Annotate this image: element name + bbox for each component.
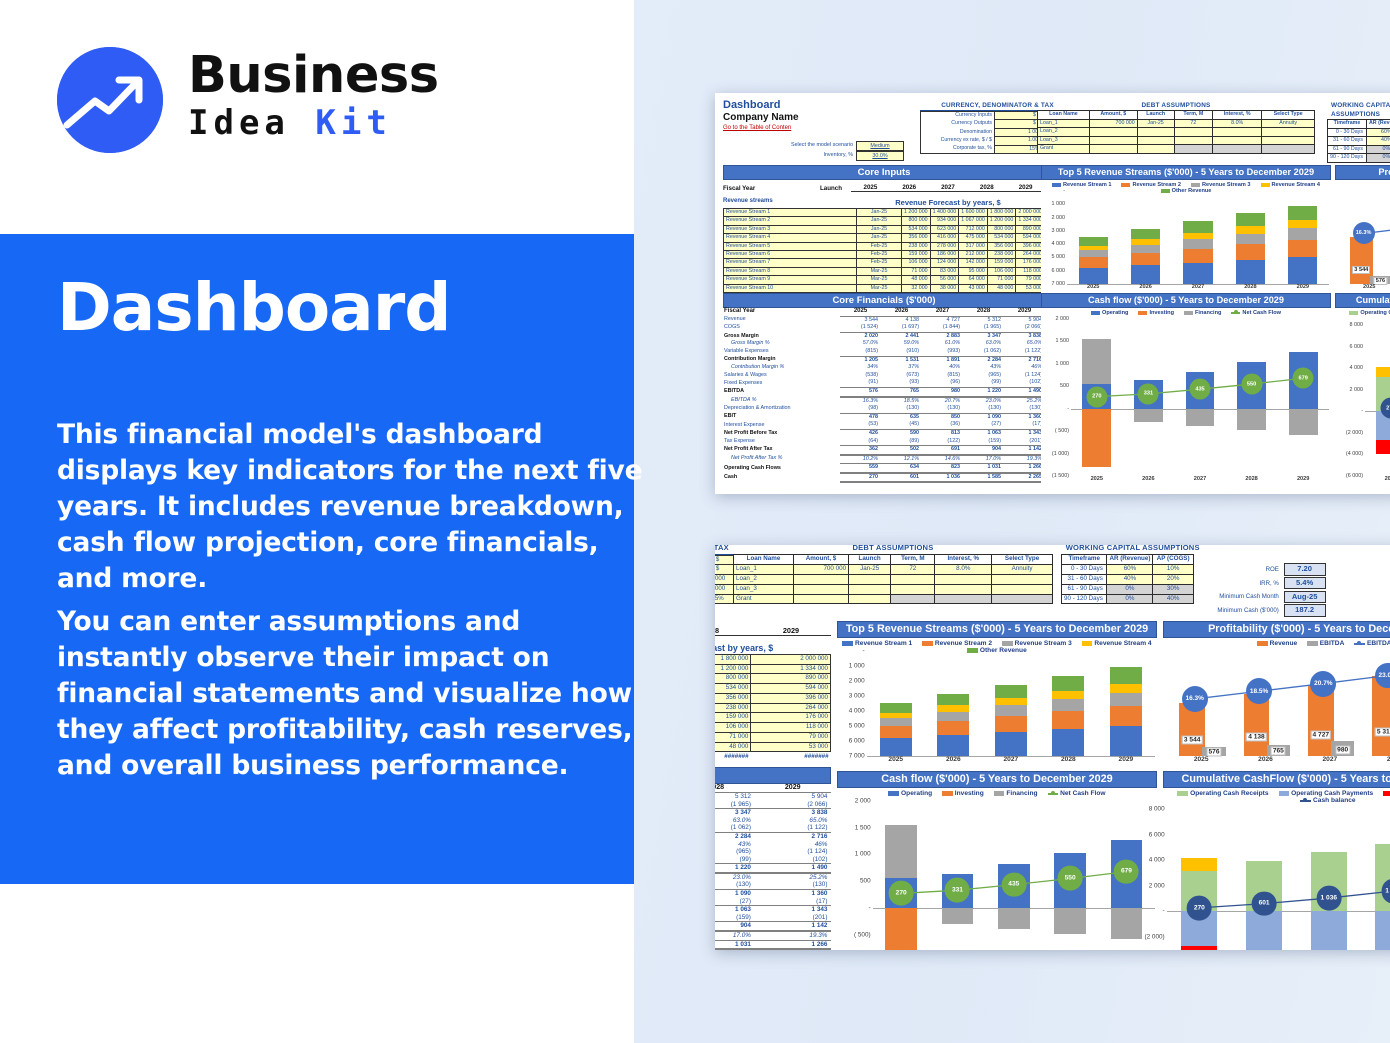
year-header-2028[interactable]: 2028 bbox=[715, 626, 751, 636]
bar-segment[interactable] bbox=[1288, 240, 1317, 258]
debt-cell[interactable] bbox=[1262, 145, 1315, 154]
revenue-stream-row[interactable]: Revenue Stream 1Jan-251 200 0001 400 000… bbox=[724, 209, 1045, 217]
core-financials-value[interactable]: 1 090 bbox=[963, 413, 1004, 421]
bar-segment[interactable] bbox=[1110, 693, 1142, 706]
revenue-stream-row[interactable]: 212 000238 000264 000 bbox=[715, 703, 831, 713]
legend-label[interactable]: Operating Cash Receipts bbox=[1190, 790, 1268, 797]
debt-cell[interactable] bbox=[849, 574, 891, 584]
core-financials-row[interactable]: (993)(1 062)(1 122) bbox=[715, 824, 831, 832]
debt-cell[interactable] bbox=[891, 574, 935, 584]
core-financials-row[interactable]: 20.7%23.0%25.2% bbox=[715, 873, 831, 882]
core-financials-value[interactable]: (17) bbox=[754, 898, 831, 906]
chart-cash-flow-legend[interactable]: OperatingInvestingFinancingNet Cash Flow bbox=[837, 788, 1157, 797]
debt-cell[interactable]: Loan_2 bbox=[734, 574, 794, 584]
core-financials-value[interactable]: (2 066) bbox=[754, 801, 831, 809]
working-capital-assumptions[interactable]: WORKING CAPITAL ASSUMPTIONSTimeframeAR (… bbox=[1327, 101, 1390, 163]
core-financials-row[interactable]: EBIT4786358501 0901 360 bbox=[723, 413, 1045, 421]
revenue-stream-value[interactable]: 2 000 000 bbox=[751, 654, 831, 664]
legend-item[interactable]: Revenue Stream 4 bbox=[1082, 640, 1152, 647]
wc-cell[interactable]: 30% bbox=[1153, 584, 1193, 594]
core-financials-value[interactable]: (27) bbox=[963, 421, 1004, 429]
x-axis-tick[interactable]: 2026 bbox=[925, 756, 983, 769]
kpi-row[interactable]: ROE7.20 bbox=[1217, 563, 1325, 576]
debt-header-cell[interactable]: Interest, % bbox=[1213, 111, 1262, 120]
core-financials-row-label[interactable]: Gross Margin % bbox=[723, 340, 840, 348]
bar-segment[interactable] bbox=[1079, 246, 1108, 251]
debt-cell[interactable] bbox=[1137, 128, 1174, 137]
revenue-stream-row[interactable]: Revenue Stream 9Mar-2548 00056 00064 000… bbox=[724, 276, 1045, 284]
revenue-stream-value[interactable]: 212 000 bbox=[959, 251, 988, 259]
revenue-forecast-table[interactable]: Revenue Stream 1Jan-251 200 0001 400 000… bbox=[723, 208, 1045, 293]
debt-cell[interactable] bbox=[1174, 136, 1213, 145]
debt-row[interactable]: Loan_1700 000Jan-25728.0%Annuity bbox=[1038, 119, 1315, 128]
y-axis-tick[interactable]: 4 000 bbox=[1350, 365, 1364, 371]
core-financials-value[interactable]: 1 585 bbox=[963, 473, 1004, 483]
revenue-stream-value[interactable]: 712 000 bbox=[959, 225, 988, 233]
bars-area[interactable]: 2706011 0361 5852 265 bbox=[1365, 325, 1390, 476]
core-financials-row[interactable]: 1 8912 2842 716 bbox=[715, 832, 831, 840]
core-financials-row-label[interactable]: EBITDA bbox=[723, 387, 840, 396]
core-financials-row[interactable]: 14.6%17.0%19.3% bbox=[715, 931, 831, 940]
y-axis-tick[interactable]: 1 000 bbox=[1056, 361, 1070, 367]
core-financials-value[interactable]: 1 531 bbox=[881, 356, 922, 364]
debt-cell[interactable] bbox=[1262, 128, 1315, 137]
kpi-row[interactable]: IRR, %5.4% bbox=[1217, 577, 1325, 590]
revenue-stream-value[interactable]: 416 000 bbox=[930, 234, 959, 242]
chart-cash-flow-legend[interactable]: OperatingInvestingFinancingNet Cash Flow bbox=[1041, 308, 1331, 316]
legend-item[interactable]: Cash balance bbox=[1300, 797, 1355, 804]
revenue-stream-value[interactable]: 356 000 bbox=[715, 693, 751, 703]
legend-item[interactable]: Operating bbox=[888, 790, 932, 797]
core-financials-value[interactable]: 270 bbox=[840, 473, 881, 483]
core-financials-row[interactable]: Interest Expense(53)(45)(36)(27)(17) bbox=[723, 421, 1045, 429]
revenue-stream-launch[interactable]: Jan-25 bbox=[857, 209, 902, 217]
revenue-stream-row[interactable]: 475 000534 000594 000 bbox=[715, 684, 831, 694]
bar-column[interactable] bbox=[995, 651, 1027, 756]
y-axis-tick[interactable]: 3 000 bbox=[849, 693, 865, 700]
year-header-2025[interactable]: 2025 bbox=[851, 184, 890, 192]
legend-item[interactable]: Operating Cash Receipts bbox=[1349, 310, 1390, 316]
core-financials-year[interactable]: 2028 bbox=[963, 308, 1004, 316]
core-financials-year[interactable]: 2027 bbox=[922, 308, 963, 316]
debt-row[interactable]: Loan_2 bbox=[1038, 128, 1315, 137]
y-axis-tick[interactable]: - bbox=[869, 904, 871, 911]
core-financials-value[interactable]: 63.0% bbox=[715, 817, 754, 825]
core-financials-value[interactable]: (201) bbox=[1004, 438, 1045, 446]
core-financials-block[interactable]: 2027202820294 7275 3125 904(1 844)(1 965… bbox=[715, 767, 831, 950]
kpi-value[interactable]: 187.2 bbox=[1284, 604, 1326, 617]
x-axis-tick[interactable]: 2025 bbox=[867, 756, 925, 769]
legend-swatch[interactable] bbox=[1261, 183, 1270, 187]
core-financials-value[interactable]: 1 891 bbox=[922, 356, 963, 364]
core-financials-value[interactable]: 19.3% bbox=[754, 931, 831, 940]
chart-cash-flow-title[interactable]: Cash flow ($'000) - 5 Years to December … bbox=[1041, 293, 1331, 308]
debt-cell[interactable] bbox=[992, 594, 1053, 604]
revenue-stream-name[interactable]: Revenue Stream 10 bbox=[724, 284, 857, 292]
core-financials-value[interactable]: (1 524) bbox=[840, 324, 881, 332]
debt-cell[interactable]: 8.0% bbox=[935, 564, 992, 574]
y-axis-tick[interactable]: 4 000 bbox=[1149, 857, 1165, 864]
wc-row[interactable]: 0 - 30 Days60%10% bbox=[1062, 564, 1194, 574]
x-axis-tick[interactable]: 2028 bbox=[1226, 476, 1278, 487]
y-axis-tick[interactable]: - bbox=[863, 648, 865, 655]
legend-swatch[interactable] bbox=[888, 791, 899, 796]
debt-cell[interactable]: Loan_1 bbox=[734, 564, 794, 574]
core-financials-row[interactable]: Operating Cash Flows5596348231 0311 266 bbox=[723, 464, 1045, 473]
core-financials-row[interactable]: (36)(27)(17) bbox=[715, 898, 831, 906]
core-financials-value[interactable]: (815) bbox=[840, 348, 881, 356]
core-financials-row[interactable]: 8501 0901 360 bbox=[715, 890, 831, 898]
core-financials-value[interactable]: 426 bbox=[840, 429, 881, 437]
wc-header-cell[interactable]: Timeframe bbox=[1062, 554, 1107, 564]
y-axis[interactable]: -1 0002 0003 0004 0005 0006 0007 000 bbox=[837, 651, 867, 769]
debt-row[interactable]: Loan_1700 000Jan-25728.0%Annuity bbox=[734, 564, 1053, 574]
debt-header-row[interactable]: Loan NameAmount, $LaunchTerm, MInterest,… bbox=[734, 554, 1053, 564]
revenue-stream-name[interactable]: Revenue Stream 5 bbox=[724, 242, 857, 250]
revenue-stream-row[interactable]: 1 067 0001 200 0001 334 000 bbox=[715, 664, 831, 674]
revenue-stream-row[interactable]: 1 600 0001 800 0002 000 000 bbox=[715, 654, 831, 664]
x-axis[interactable]: 20252026202720282029 bbox=[867, 756, 1155, 769]
core-financials-value[interactable]: 1 205 bbox=[840, 356, 881, 364]
legend-item[interactable]: Revenue Stream 3 bbox=[1002, 640, 1072, 647]
bar-segment[interactable] bbox=[880, 738, 912, 756]
kpi-list[interactable]: ROE7.20IRR, %5.4%Minimum Cash MonthAug-2… bbox=[1217, 554, 1325, 619]
core-financials-value[interactable]: 61.0% bbox=[922, 340, 963, 348]
revenue-stream-value[interactable]: 1 334 000 bbox=[751, 664, 831, 674]
debt-cell[interactable] bbox=[1089, 128, 1137, 137]
y-axis-tick[interactable]: 1 500 bbox=[855, 824, 871, 831]
core-financials-value[interactable]: 18.5% bbox=[881, 397, 922, 406]
chart-cash-flow[interactable]: Cash flow ($'000) - 5 Years to December … bbox=[837, 771, 1157, 950]
core-financials-value[interactable]: 23.0% bbox=[963, 397, 1004, 406]
revenue-stream-name[interactable]: Revenue Stream 6 bbox=[724, 251, 857, 259]
core-financials-row[interactable]: 40%43%46% bbox=[715, 841, 831, 849]
core-financials-row[interactable]: (1 844)(1 965)(2 066) bbox=[715, 801, 831, 809]
y-axis-tick[interactable]: ( 500) bbox=[1055, 428, 1069, 434]
core-financials-value[interactable]: 823 bbox=[922, 464, 963, 473]
revenue-stream-row[interactable]: Revenue Stream 8Mar-2571 00083 00095 000… bbox=[724, 267, 1045, 275]
revenue-stream-name[interactable]: Revenue Stream 1 bbox=[724, 209, 857, 217]
core-financials-row[interactable]: Contribution Margin1 2051 5311 8912 2842… bbox=[723, 356, 1045, 364]
bar-segment[interactable] bbox=[1131, 253, 1160, 265]
y-axis-tick[interactable]: 2 000 bbox=[1056, 316, 1070, 322]
core-financials-row[interactable]: Salaries & Wages(538)(673)(815)(965)(1 1… bbox=[723, 372, 1045, 380]
y-axis-tick[interactable]: 6 000 bbox=[1350, 344, 1364, 350]
core-financials-value[interactable]: 40% bbox=[922, 364, 963, 372]
debt-cell[interactable] bbox=[1174, 128, 1213, 137]
bar-segment[interactable] bbox=[995, 716, 1027, 732]
legend-swatch[interactable] bbox=[1257, 641, 1268, 646]
core-financials-value[interactable]: (815) bbox=[922, 372, 963, 380]
revenue-stream-row[interactable]: 317 000356 000396 000 bbox=[715, 693, 831, 703]
core-financials-value[interactable]: (99) bbox=[715, 856, 754, 864]
bar-segment[interactable] bbox=[1110, 667, 1142, 683]
bar-segment[interactable] bbox=[1183, 221, 1212, 233]
x-axis-tick[interactable]: 2028 bbox=[1040, 756, 1098, 769]
core-financials-row-label[interactable]: Variable Expenses bbox=[723, 348, 840, 356]
core-financials-table[interactable]: Fiscal Year20252026202720282029Revenue3 … bbox=[723, 308, 1045, 483]
year-header-2026[interactable]: 2026 bbox=[890, 184, 929, 192]
working-capital-body[interactable]: TimeframeAR (Revenue)AP (COGS)0 - 30 Day… bbox=[1061, 554, 1326, 619]
core-financials-value[interactable]: 3 838 bbox=[1004, 332, 1045, 340]
legend-label[interactable]: EBITDA bbox=[1320, 640, 1345, 647]
revenue-stream-value[interactable]: 475 000 bbox=[959, 234, 988, 242]
core-financials-row[interactable]: 4 7275 3125 904 bbox=[715, 792, 831, 800]
legend-swatch[interactable] bbox=[942, 791, 953, 796]
debt-cell[interactable]: Grant bbox=[734, 594, 794, 604]
wc-header-cell[interactable]: Timeframe bbox=[1328, 120, 1367, 129]
core-financials-value[interactable]: (159) bbox=[715, 914, 754, 922]
kpi-row[interactable]: Minimum Cash MonthAug-25 bbox=[1217, 591, 1325, 604]
bar-segment[interactable] bbox=[937, 735, 969, 756]
wc-header-row[interactable]: TimeframeAR (Revenue)AP (COGS) bbox=[1062, 554, 1194, 564]
legend-label[interactable]: Operating Cash Receipts bbox=[1360, 310, 1390, 316]
wc-row[interactable]: 90 - 120 Days0%40% bbox=[1062, 594, 1194, 604]
y-axis-tick[interactable]: 7 000 bbox=[849, 753, 865, 760]
legend-label[interactable]: Investing bbox=[1149, 310, 1174, 316]
wc-cell[interactable]: 0 - 30 Days bbox=[1328, 128, 1367, 137]
bar-segment[interactable] bbox=[1110, 726, 1142, 756]
scenario-label[interactable]: Select the model scenario bbox=[735, 142, 856, 149]
bar-segment[interactable] bbox=[995, 685, 1027, 698]
debt-header-cell[interactable]: Launch bbox=[849, 554, 891, 564]
core-financials-row-label[interactable]: Revenue bbox=[723, 316, 840, 324]
data-bubble[interactable]: 550 bbox=[1241, 374, 1262, 395]
wc-cell[interactable]: 0% bbox=[1107, 594, 1153, 604]
debt-cell[interactable]: Loan_3 bbox=[1038, 136, 1090, 145]
core-financials-value[interactable]: (201) bbox=[754, 914, 831, 922]
y-axis-tick[interactable]: - bbox=[1067, 406, 1069, 412]
bar-segment[interactable] bbox=[1131, 229, 1160, 239]
debt-row[interactable]: Grant bbox=[734, 594, 1053, 604]
core-financials-value[interactable]: 46% bbox=[1004, 364, 1045, 372]
core-financials-value[interactable]: 10.2% bbox=[840, 455, 881, 464]
core-financials-value[interactable]: (1 965) bbox=[963, 324, 1004, 332]
year-header-2029[interactable]: 2029 bbox=[1006, 184, 1045, 192]
revenue-stream-value[interactable]: 594 000 bbox=[751, 684, 831, 694]
legend-item[interactable]: Revenue bbox=[1257, 640, 1297, 647]
core-financials-value[interactable]: (1 124) bbox=[1004, 372, 1045, 380]
core-financials-value[interactable]: 3 838 bbox=[754, 809, 831, 817]
data-bubble[interactable]: 331 bbox=[945, 878, 970, 903]
y-axis[interactable]: 8 0006 0004 0002 000-(2 000)(4 000)(6 00… bbox=[1335, 325, 1365, 487]
inventory-value[interactable]: 30.0% bbox=[856, 151, 904, 161]
chart-profitability-title[interactable]: Profitability ($'000) - 5 Years to Decem… bbox=[1335, 165, 1390, 180]
legend-item[interactable]: EBITDA bbox=[1307, 640, 1344, 647]
y-axis-tick[interactable]: 2 000 bbox=[1052, 215, 1066, 221]
debt-cell[interactable] bbox=[1089, 145, 1137, 154]
core-financials-row-label[interactable]: EBITDA % bbox=[723, 397, 840, 406]
core-financials-row[interactable]: Contribution Margin %34%37%40%43%46% bbox=[723, 364, 1045, 372]
core-inputs-year-header[interactable]: Fiscal YearLaunch20252026202720282029 bbox=[723, 180, 1045, 192]
bar-segment[interactable] bbox=[1052, 691, 1084, 699]
debt-cell[interactable]: 700 000 bbox=[793, 564, 848, 574]
legend-item[interactable]: Revenue Stream 2 bbox=[922, 640, 992, 647]
legend-swatch[interactable] bbox=[1307, 641, 1318, 646]
working-capital-title[interactable]: WORKING CAPITAL ASSUMPTIONS bbox=[1327, 101, 1390, 119]
y-axis-tick[interactable]: 4 000 bbox=[1052, 241, 1066, 247]
total-revenue-value[interactable]: ####### bbox=[751, 753, 831, 760]
wc-header-row[interactable]: TimeframeAR (Revenue)AP (COGS) bbox=[1328, 120, 1390, 129]
debt-header-cell[interactable]: Launch bbox=[1137, 111, 1174, 120]
bar-segment[interactable] bbox=[1288, 220, 1317, 228]
revenue-stream-value[interactable]: 48 000 bbox=[902, 276, 931, 284]
core-financials-value[interactable]: 2 265 bbox=[754, 949, 831, 950]
inventory-row[interactable]: Inventory, %30.0% bbox=[735, 151, 935, 160]
revenue-stream-name[interactable]: Revenue Stream 2 bbox=[724, 217, 857, 225]
ebitda-pct-bubble[interactable]: 18.5% bbox=[1246, 678, 1272, 704]
revenue-stream-launch[interactable]: Mar-25 bbox=[857, 276, 902, 284]
revenue-stream-name[interactable]: Revenue Stream 8 bbox=[724, 267, 857, 275]
core-financials-value[interactable]: (965) bbox=[963, 372, 1004, 380]
bars-area[interactable] bbox=[1067, 191, 1329, 284]
debt-cell[interactable] bbox=[992, 584, 1053, 594]
debt-cell[interactable]: Annuity bbox=[992, 564, 1053, 574]
y-axis-tick[interactable]: 5 000 bbox=[1052, 254, 1066, 260]
core-financials-value[interactable]: 590 bbox=[881, 429, 922, 437]
bar-segment[interactable] bbox=[1183, 249, 1212, 263]
bar-segment[interactable] bbox=[1110, 684, 1142, 693]
revenue-stream-value[interactable]: 800 000 bbox=[987, 225, 1016, 233]
legend-swatch[interactable] bbox=[1121, 183, 1130, 187]
core-financials-value[interactable]: (130) bbox=[963, 405, 1004, 413]
legend-item[interactable]: Revenue Stream 1 bbox=[1052, 182, 1112, 188]
core-financials-row[interactable]: COGS(1 524)(1 697)(1 844)(1 965)(2 066) bbox=[723, 324, 1045, 332]
revenue-forecast-title[interactable]: Revenue Forecast by years, $ bbox=[851, 198, 1045, 207]
bar-column[interactable] bbox=[1236, 191, 1265, 284]
revenue-stream-value[interactable]: 1 800 000 bbox=[987, 209, 1016, 217]
legend-swatch[interactable] bbox=[922, 641, 933, 646]
bar-segment[interactable] bbox=[1110, 706, 1142, 726]
revenue-stream-value[interactable]: 106 000 bbox=[715, 723, 751, 733]
revenue-stream-value[interactable]: 64 000 bbox=[959, 276, 988, 284]
wc-header-cell[interactable]: AR (Revenue) bbox=[1107, 554, 1153, 564]
chart-profitability[interactable]: Profitability ($'000) - 5 Years to Decem… bbox=[1163, 621, 1390, 769]
core-financials-row[interactable]: 2 8833 3473 838 bbox=[715, 809, 831, 817]
x-axis-tick[interactable]: 2027 bbox=[1298, 756, 1362, 769]
bar-segment[interactable] bbox=[1236, 226, 1265, 233]
core-financials-value[interactable]: 3 347 bbox=[963, 332, 1004, 340]
legend-swatch[interactable] bbox=[1300, 800, 1311, 802]
debt-header-cell[interactable]: Interest, % bbox=[935, 554, 992, 564]
bar-column[interactable] bbox=[1183, 191, 1212, 284]
revenue-stream-value[interactable]: 71 000 bbox=[987, 276, 1016, 284]
legend-label[interactable]: Revenue Stream 2 bbox=[935, 640, 992, 647]
wc-row[interactable]: 0 - 30 Days60%10% bbox=[1328, 128, 1390, 137]
debt-cell[interactable] bbox=[935, 584, 992, 594]
core-financials-value[interactable]: (89) bbox=[881, 438, 922, 446]
core-financials-value[interactable]: 12.1% bbox=[881, 455, 922, 464]
y-axis-tick[interactable]: 4 000 bbox=[849, 708, 865, 715]
revenue-stream-launch[interactable]: Feb-25 bbox=[857, 251, 902, 259]
revenue-stream-value[interactable]: 95 000 bbox=[959, 267, 988, 275]
wc-cell[interactable]: 61 - 90 Days bbox=[1062, 584, 1107, 594]
x-axis-tick[interactable]: 2027 bbox=[982, 756, 1040, 769]
working-capital-rows[interactable]: TimeframeAR (Revenue)AP (COGS)0 - 30 Day… bbox=[1327, 119, 1390, 163]
y-axis-tick[interactable]: (4 000) bbox=[1346, 451, 1363, 457]
y-axis-tick[interactable]: 5 000 bbox=[849, 723, 865, 730]
legend-label[interactable]: Revenue Stream 3 bbox=[1015, 640, 1072, 647]
legend-label[interactable]: Revenue bbox=[1270, 640, 1298, 647]
y-axis-tick[interactable]: 500 bbox=[860, 878, 871, 885]
core-financials-value[interactable]: 43% bbox=[963, 364, 1004, 372]
legend-label[interactable]: Revenue Stream 1 bbox=[1063, 182, 1112, 188]
debt-cell[interactable] bbox=[1089, 136, 1137, 145]
bar-segment[interactable] bbox=[1079, 257, 1108, 268]
revenue-forecast-table[interactable]: 1 600 0001 800 0002 000 0001 067 0001 20… bbox=[715, 654, 831, 752]
y-axis-tick[interactable]: (2 000) bbox=[1144, 933, 1164, 940]
chart-profitability-legend[interactable]: RevenueEBITDAEBITDA % bbox=[1335, 180, 1390, 188]
chart-cumulative-cashflow-legend[interactable]: Operating Cash ReceiptsOperating Cash Pa… bbox=[1335, 308, 1390, 322]
chart-cumulative-cashflow[interactable]: Cumulative CashFlow ($'000) - 5 Years to… bbox=[1335, 293, 1390, 489]
revenue-stream-value[interactable]: 48 000 bbox=[715, 742, 751, 752]
core-financials-value[interactable]: (17) bbox=[1004, 421, 1045, 429]
revenue-stream-name[interactable]: Revenue Stream 3 bbox=[724, 225, 857, 233]
wc-row[interactable]: 61 - 90 Days0%30% bbox=[1328, 145, 1390, 154]
bar-segment[interactable] bbox=[937, 721, 969, 735]
revenue-stream-row[interactable]: Revenue Stream 2Jan-25800 000934 0001 06… bbox=[724, 217, 1045, 225]
bar-column[interactable] bbox=[1110, 651, 1142, 756]
data-bubble[interactable]: 601 bbox=[1252, 891, 1277, 916]
debt-cell[interactable] bbox=[1213, 145, 1262, 154]
core-financials-value[interactable]: 2 441 bbox=[881, 332, 922, 340]
legend-label[interactable]: Revenue Stream 4 bbox=[1272, 182, 1321, 188]
y-axis-tick[interactable]: 6 000 bbox=[1052, 268, 1066, 274]
y-axis[interactable]: -1 0002 0003 0004 0005 0006 0007 000 bbox=[1041, 191, 1067, 295]
debt-header-cell[interactable]: Amount, $ bbox=[1089, 111, 1137, 120]
revenue-stream-value[interactable]: 934 000 bbox=[930, 217, 959, 225]
core-financials-value[interactable]: (53) bbox=[840, 421, 881, 429]
revenue-stream-value[interactable]: 1 800 000 bbox=[715, 654, 751, 664]
debt-cell[interactable] bbox=[891, 584, 935, 594]
core-financials-value[interactable]: 17.0% bbox=[963, 455, 1004, 464]
working-capital-title[interactable]: WORKING CAPITAL ASSUMPTIONS bbox=[1061, 545, 1326, 554]
data-bubble[interactable]: 1 036 bbox=[1316, 886, 1341, 911]
y-axis-tick[interactable]: - bbox=[1163, 908, 1165, 915]
x-axis-tick[interactable]: 2026 bbox=[1233, 756, 1297, 769]
core-financials-value[interactable]: (27) bbox=[715, 898, 754, 906]
revenue-stream-value[interactable]: 356 000 bbox=[902, 234, 931, 242]
revenue-stream-value[interactable]: 43 000 bbox=[959, 284, 988, 292]
revenue-stream-row[interactable]: 142 000159 000176 000 bbox=[715, 713, 831, 723]
core-financials-value[interactable]: 1 585 bbox=[715, 949, 754, 950]
bar-segment[interactable] bbox=[1236, 260, 1265, 284]
year-header-2028[interactable]: 2028 bbox=[967, 184, 1006, 192]
bar-column[interactable] bbox=[1288, 191, 1317, 284]
y-axis-tick[interactable]: (1 500) bbox=[1052, 473, 1069, 479]
y-axis-tick[interactable]: (2 000) bbox=[1346, 430, 1363, 436]
legend-swatch[interactable] bbox=[1138, 311, 1147, 315]
debt-cell[interactable]: 8.0% bbox=[1213, 119, 1262, 128]
bar-column[interactable] bbox=[937, 651, 969, 756]
core-financials-value[interactable]: 59.0% bbox=[881, 340, 922, 348]
wc-cell[interactable]: 40% bbox=[1366, 137, 1390, 146]
core-financials-value[interactable]: (45) bbox=[881, 421, 922, 429]
revenue-stream-row[interactable]: 64 00071 00079 000 bbox=[715, 732, 831, 742]
core-financials-row[interactable]: 61.0%63.0%65.0% bbox=[715, 817, 831, 825]
core-financials-value[interactable]: (36) bbox=[922, 421, 963, 429]
core-financials-row-label[interactable]: Gross Margin bbox=[723, 332, 840, 340]
core-financials-value[interactable]: 25.2% bbox=[754, 873, 831, 882]
core-financials-value[interactable]: (1 062) bbox=[715, 824, 754, 832]
debt-cell[interactable] bbox=[849, 594, 891, 604]
revenue-stream-value[interactable]: 53 000 bbox=[751, 742, 831, 752]
legend-item[interactable]: Operating bbox=[1091, 310, 1128, 316]
bar-segment[interactable] bbox=[1183, 239, 1212, 248]
revenue-stream-value[interactable]: 1 200 000 bbox=[715, 664, 751, 674]
core-financials-row[interactable]: Net Profit After Tax %10.2%12.1%14.6%17.… bbox=[723, 455, 1045, 464]
bar-segment[interactable] bbox=[880, 726, 912, 738]
